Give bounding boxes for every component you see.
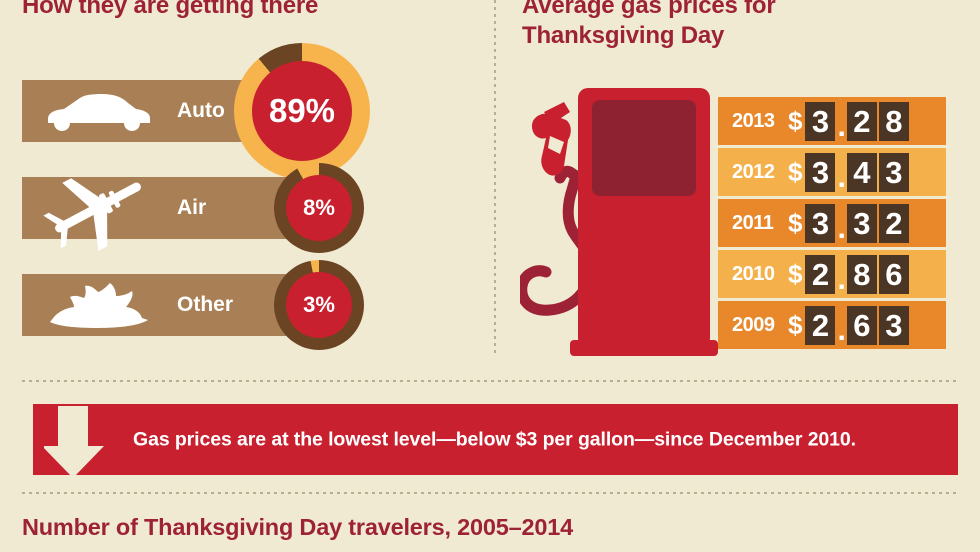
price-digits: 3 . 3 2 <box>805 204 910 243</box>
horizontal-dotted-divider-top <box>22 380 958 382</box>
infographic-canvas: How they are getting there Average gas p… <box>0 0 980 552</box>
price-digit: 2 <box>879 204 909 243</box>
gas-pump-illustration <box>520 78 740 360</box>
horizontal-dotted-divider-bottom <box>22 492 958 494</box>
price-digit: 3 <box>805 153 835 192</box>
price-digit: 8 <box>847 255 877 294</box>
car-icon <box>40 93 152 138</box>
price-digit: 3 <box>879 306 909 345</box>
price-digit: 6 <box>879 255 909 294</box>
table-row: 2011 $ 3 . 3 2 <box>718 199 946 247</box>
decimal-point: . <box>837 263 845 297</box>
price-digits: 3 . 4 3 <box>805 153 910 192</box>
boat-icon <box>44 282 152 335</box>
price-digit: 2 <box>847 102 877 141</box>
mode-row-auto: Auto 89% <box>22 80 334 142</box>
table-row: 2009 $ 2 . 6 3 <box>718 301 946 349</box>
table-row: 2012 $ 3 . 4 3 <box>718 148 946 196</box>
price-digit: 2 <box>805 306 835 345</box>
table-row: 2010 $ 2 . 8 6 <box>718 250 946 298</box>
price-year: 2010 <box>732 263 788 286</box>
donut-gauge-auto: 89% <box>234 43 370 179</box>
callout-text: Gas prices are at the lowest level—below… <box>133 428 856 451</box>
decimal-point: . <box>837 314 845 348</box>
price-year: 2013 <box>732 110 788 133</box>
price-digit: 8 <box>879 102 909 141</box>
donut-value-auto: 89% <box>252 61 352 161</box>
price-digit: 6 <box>847 306 877 345</box>
mode-label-other: Other <box>177 293 233 317</box>
down-arrow-icon <box>44 400 112 480</box>
donut-value-air: 8% <box>286 175 352 241</box>
price-digits: 2 . 8 6 <box>805 255 910 294</box>
price-year: 2011 <box>732 212 788 235</box>
mode-label-air: Air <box>177 196 206 220</box>
price-year: 2009 <box>732 314 788 337</box>
price-digits: 3 . 2 8 <box>805 102 910 141</box>
price-digit: 3 <box>805 204 835 243</box>
vertical-dotted-divider <box>494 0 496 356</box>
price-year: 2012 <box>732 161 788 184</box>
decimal-point: . <box>837 212 845 246</box>
price-digit: 2 <box>805 255 835 294</box>
currency-symbol: $ <box>788 208 802 239</box>
decimal-point: . <box>837 161 845 195</box>
page-title-travelers: Number of Thanksgiving Day travelers, 20… <box>22 512 573 542</box>
price-digit: 3 <box>847 204 877 243</box>
donut-value-other: 3% <box>286 272 352 338</box>
currency-symbol: $ <box>788 157 802 188</box>
page-title-gas-prices: Average gas prices for Thanksgiving Day <box>522 0 776 51</box>
price-digit: 3 <box>805 102 835 141</box>
callout-banner: Gas prices are at the lowest level—below… <box>33 404 958 475</box>
currency-symbol: $ <box>788 106 802 137</box>
currency-symbol: $ <box>788 259 802 290</box>
price-digits: 2 . 6 3 <box>805 306 910 345</box>
donut-percent-other: 3% <box>303 292 335 318</box>
currency-symbol: $ <box>788 310 802 341</box>
decimal-point: . <box>837 110 845 144</box>
page-title-modes: How they are getting there <box>22 0 318 21</box>
airplane-icon <box>38 164 154 257</box>
price-digit: 4 <box>847 153 877 192</box>
donut-percent-air: 8% <box>303 195 335 221</box>
donut-gauge-other: 3% <box>274 260 364 350</box>
price-digit: 3 <box>879 153 909 192</box>
mode-label-auto: Auto <box>177 99 225 123</box>
donut-gauge-air: 8% <box>274 163 364 253</box>
gas-price-table: 2013 $ 3 . 2 8 2012 $ 3 . 4 3 2011 $ 3 <box>718 97 946 352</box>
mode-row-other: Other 3% <box>22 274 334 336</box>
table-row: 2013 $ 3 . 2 8 <box>718 97 946 145</box>
donut-percent-auto: 89% <box>269 92 335 130</box>
mode-row-air: Air 8% <box>22 177 334 239</box>
